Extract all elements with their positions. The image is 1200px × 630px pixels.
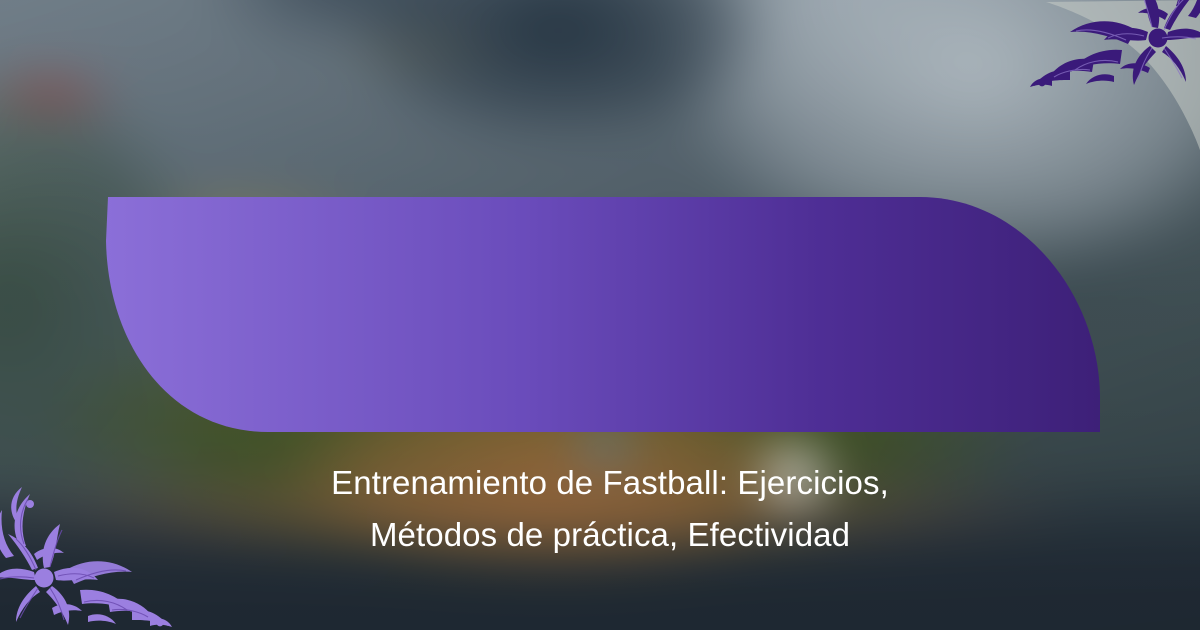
title-block: Entrenamiento de Fastball: Ejercicios, M… xyxy=(150,390,1070,628)
social-share-card: Entrenamiento de Fastball: Ejercicios, M… xyxy=(0,0,1200,630)
page-title-line-2: Métodos de práctica, Efectividad xyxy=(370,509,850,561)
title-ribbon: Entrenamiento de Fastball: Ejercicios, M… xyxy=(0,195,1200,435)
page-title-line-1: Entrenamiento de Fastball: Ejercicios, xyxy=(331,457,889,509)
